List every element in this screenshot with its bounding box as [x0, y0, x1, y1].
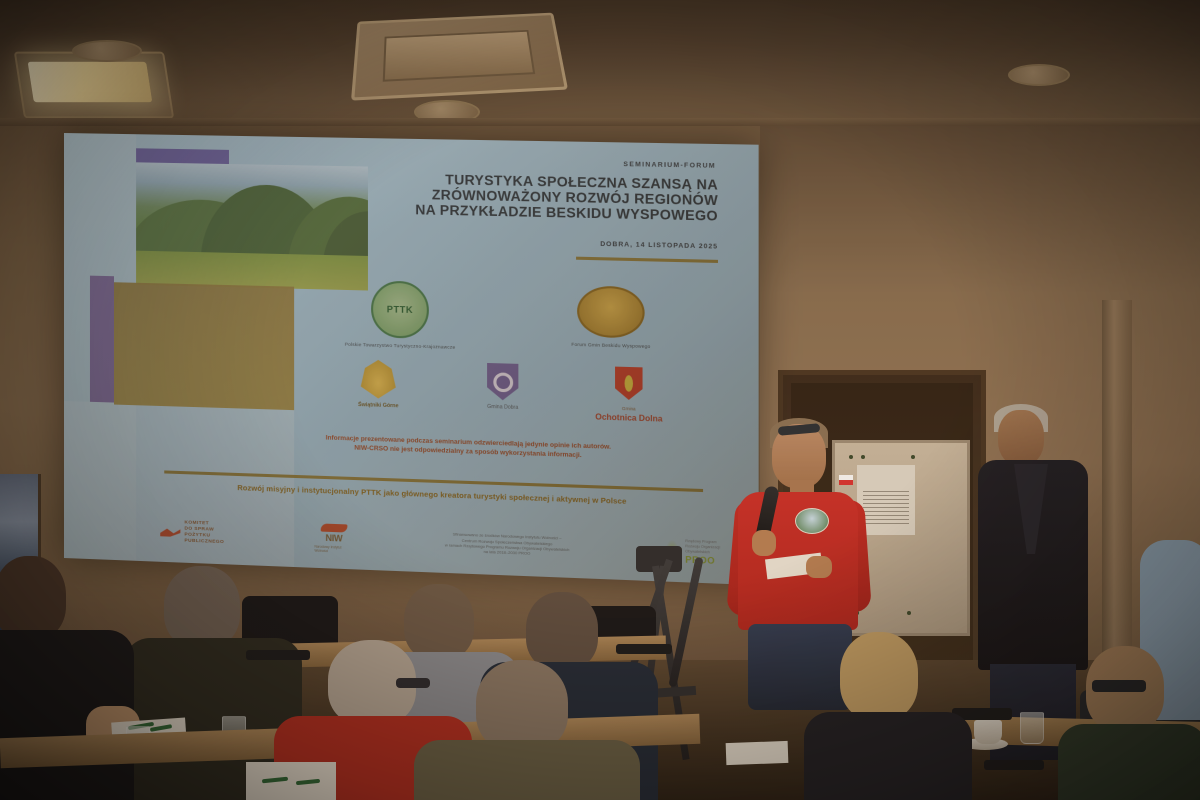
- head: [840, 632, 918, 720]
- slide-landscape-photo: [136, 162, 368, 290]
- slide-disclaimer: Informacje prezentowane podczas seminari…: [221, 430, 720, 465]
- ceiling-speaker-icon: [1008, 64, 1070, 86]
- organizer-caption: Polskie Towarzystwo Turystyczno-Krajozna…: [345, 342, 456, 350]
- speaker-hand-holding-notes: [806, 556, 832, 578]
- kpp-mark-icon: [160, 527, 180, 538]
- polish-flag-icon: [839, 475, 853, 485]
- slide-date: DOBRA, 14 LISTOPADA 2025: [422, 237, 718, 251]
- gmina-dobra-crest-icon: [487, 363, 518, 401]
- remote-device: [616, 644, 672, 654]
- partner-name: Gmina Ochotnica Dolna: [595, 403, 662, 424]
- body: [804, 712, 972, 800]
- organizer-logo-row: PTTK Polskie Towarzystwo Turystyczno-Kra…: [296, 279, 718, 362]
- pttk-logo-icon: PTTK: [371, 280, 429, 338]
- man-suit-head: [998, 410, 1044, 466]
- magnet-icon: [861, 455, 865, 459]
- head: [404, 584, 474, 660]
- projection-screen: SEMINARIUM-FORUM TURYSTYKA SPOŁECZNA SZA…: [64, 133, 759, 585]
- magnet-icon: [911, 455, 915, 459]
- fluorescent-tube-light-icon: [28, 62, 153, 102]
- organizer-logo-pttk: PTTK Polskie Towarzystwo Turystyczno-Kra…: [296, 279, 505, 356]
- slide-divider-top: [576, 257, 718, 263]
- eyeglasses-icon: [1092, 680, 1146, 692]
- organizer-logo-fgbw: Forum Gmin Beskidu Wyspowego: [505, 284, 718, 362]
- body: [1058, 724, 1200, 800]
- footer-funding-text: Sfinansowano ze środków Narodowego Insty…: [445, 531, 570, 558]
- coffee-cup: [974, 720, 1002, 744]
- swiatniki-gorne-crest-icon: [361, 359, 396, 399]
- ochotnica-dolna-crest-icon: [615, 367, 642, 401]
- niw-sub: Narodowy Instytut Wolności: [314, 544, 353, 554]
- niw-mark: NIW: [326, 532, 343, 543]
- poster-text-lines: [863, 491, 909, 525]
- paper-sheet: [246, 762, 336, 800]
- partner-name: Świątniki Górne: [358, 402, 398, 409]
- tshirt-logo-patch: [795, 508, 829, 534]
- speaker-jeans: [748, 624, 852, 710]
- remote-device: [246, 650, 310, 660]
- head: [0, 556, 66, 640]
- slide-kicker: SEMINARIUM-FORUM: [422, 157, 716, 169]
- slide-title: TURYSTYKA SPOŁECZNA SZANSĄ NA ZRÓWNOWAŻO…: [384, 171, 718, 224]
- ceiling: [0, 0, 1200, 126]
- partner-logo-row: Świątniki Górne Gmina Dobra Gmina Ochotn…: [317, 358, 693, 433]
- partner-logo-dobra: Gmina Dobra: [445, 362, 560, 412]
- wall-column: [1102, 300, 1132, 690]
- head: [526, 592, 598, 670]
- ac-ceiling-vent-icon: [351, 13, 568, 101]
- partner-logo-ochotnica: Gmina Ochotnica Dolna: [571, 365, 687, 424]
- speaker-hand-holding-mic: [752, 530, 776, 556]
- conference-room-photo: SEMINARIUM-FORUM TURYSTYKA SPOŁECZNA SZA…: [0, 0, 1200, 800]
- magnet-icon: [907, 611, 911, 615]
- slide-purple-accent-left: [90, 276, 114, 403]
- magnet-icon: [849, 455, 853, 459]
- partner-logo-swiatniki: Świątniki Górne: [322, 358, 435, 410]
- partner-name: Gmina Dobra: [487, 404, 518, 411]
- head: [476, 660, 568, 752]
- footer-logo-niw: NIW Narodowy Instytut Wolności: [314, 522, 353, 554]
- slide-olive-block: [114, 282, 294, 410]
- eyeglasses-icon: [396, 678, 430, 688]
- body: [414, 740, 640, 800]
- drinking-glass: [1020, 712, 1044, 744]
- organizer-caption: Forum Gmin Beskidu Wyspowego: [571, 342, 650, 349]
- paper-sheet: [726, 741, 789, 765]
- remote-device: [984, 760, 1044, 770]
- niw-swoosh-icon: [321, 523, 348, 532]
- ceiling-speaker-icon: [72, 40, 142, 62]
- forum-gmin-logo-icon: [577, 285, 645, 338]
- head: [164, 566, 240, 648]
- kpp-label: KOMITET DO SPRAW POŻYTKU PUBLICZNEGO: [184, 520, 224, 546]
- footer-logo-kpp: KOMITET DO SPRAW POŻYTKU PUBLICZNEGO: [160, 520, 224, 547]
